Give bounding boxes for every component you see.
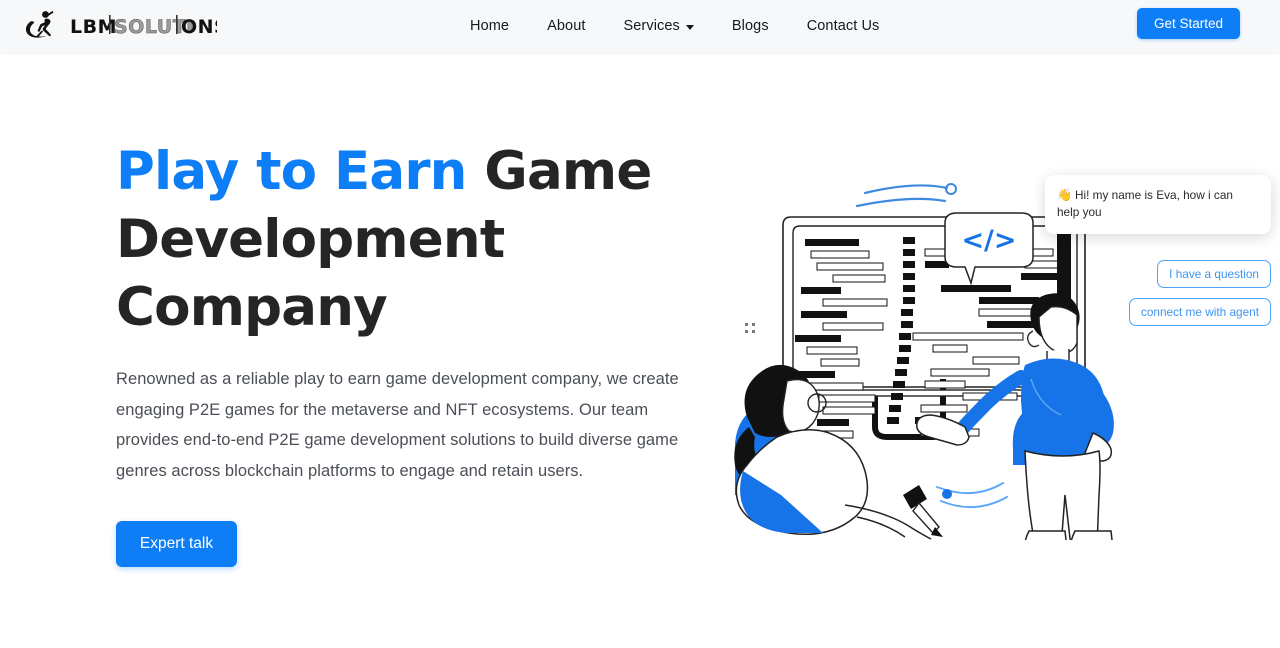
nav-label: Home [470,18,509,34]
running-figure-icon [26,11,53,38]
decorative-arcs-icon [857,184,956,206]
nav-label: Blogs [732,18,769,34]
brand-logo[interactable]: LBM SOLUTI ONS [22,6,217,46]
nav-label: Contact Us [807,18,880,34]
sparkle-icon [745,323,755,333]
expert-talk-button[interactable]: Expert talk [116,521,237,567]
chat-quick-replies: I have a question connect me with agent [1045,260,1271,326]
site-header: LBM SOLUTI ONS Home About Services Blogs [0,0,1280,52]
logo-svg: LBM SOLUTI ONS [22,8,217,44]
quick-reply-i-have-a-question[interactable]: I have a question [1157,260,1271,288]
waving-hand-icon: 👋 [1057,188,1072,202]
chat-greeting-text: Hi! my name is Eva, how i can help you [1057,188,1233,219]
chevron-down-icon [686,25,694,30]
page-title: Play to Earn Game Development Company [116,138,706,342]
logo-text-ons: ONS [181,16,217,38]
hero-paragraph: Renowned as a reliable play to earn game… [116,364,684,486]
nav-label: About [547,18,585,34]
get-started-button[interactable]: Get Started [1137,8,1240,39]
pen-icon [903,485,943,537]
nav-item-home[interactable]: Home [470,18,509,34]
nav-item-contact-us[interactable]: Contact Us [807,18,880,34]
main-navigation: Home About Services Blogs Contact Us [470,0,879,52]
chat-greeting-bubble: 👋Hi! my name is Eva, how i can help you [1045,175,1271,234]
nav-item-about[interactable]: About [547,18,585,34]
quick-reply-connect-me-with-agent[interactable]: connect me with agent [1129,298,1271,326]
code-glyph: </> [961,225,1016,256]
nav-item-blogs[interactable]: Blogs [732,18,769,34]
nav-label: Services [624,18,680,34]
page-root: LBM SOLUTI ONS Home About Services Blogs [0,0,1280,648]
nav-item-services[interactable]: Services [624,18,694,34]
swoosh-decoration [937,483,1007,507]
hero-text-block: Play to Earn Game Development Company Re… [116,138,706,567]
chat-widget: 👋Hi! my name is Eva, how i can help you … [1045,175,1271,326]
headline-accent: Play to Earn [116,141,467,202]
